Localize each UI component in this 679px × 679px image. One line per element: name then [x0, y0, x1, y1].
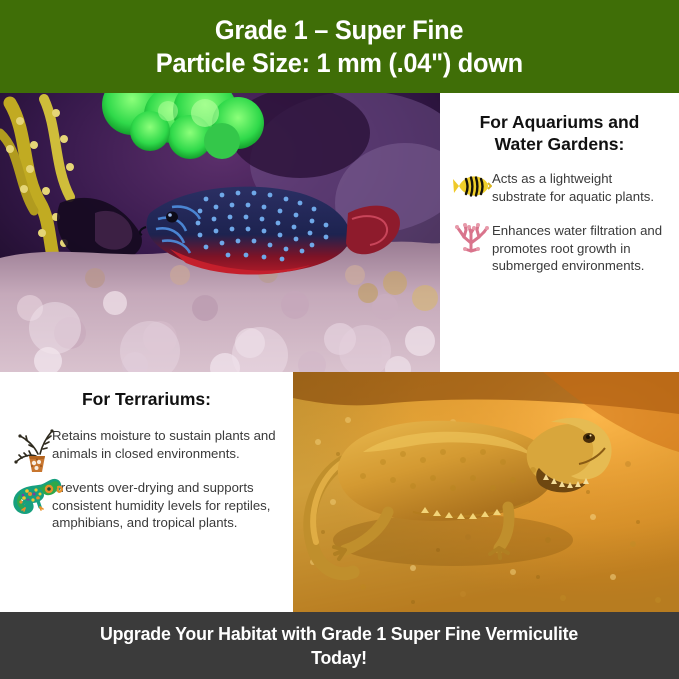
- terrarium-bullet-2-text: Prevents over-drying and supports consis…: [52, 478, 281, 532]
- footer-cta-line2: Today!: [312, 646, 368, 670]
- potted-plant-icon: [12, 426, 52, 460]
- footer-banner: Upgrade Your Habitat with Grade 1 Super …: [0, 612, 679, 679]
- aquarium-heading-line2: Water Gardens:: [452, 133, 667, 155]
- aquarium-heading: For Aquariums and Water Gardens:: [452, 111, 667, 155]
- list-item: Acts as a lightweight substrate for aqua…: [452, 169, 667, 205]
- list-item: Enhances water filtration and promotes r…: [452, 221, 667, 275]
- aquarium-heading-line1: For Aquariums and: [452, 111, 667, 133]
- list-item: Prevents over-drying and supports consis…: [12, 478, 281, 532]
- chameleon-icon: [12, 478, 52, 512]
- header-title-line1: Grade 1 – Super Fine: [215, 14, 463, 47]
- coral-icon: [452, 221, 492, 255]
- tropical-fish-icon: [452, 169, 492, 203]
- aquarium-text-panel: For Aquariums and Water Gardens:: [440, 93, 679, 372]
- terrarium-bullet-1-text: Retains moisture to sustain plants and a…: [52, 426, 281, 462]
- terrarium-row: For Terrariums:: [0, 372, 679, 612]
- aquarium-bullet-1-text: Acts as a lightweight substrate for aqua…: [492, 169, 667, 205]
- aquarium-row: For Aquariums and Water Gardens:: [0, 93, 679, 372]
- product-infographic: Grade 1 – Super Fine Particle Size: 1 mm…: [0, 0, 679, 679]
- header-title-line2: Particle Size: 1 mm (.04") down: [156, 47, 523, 80]
- terrarium-photo: [293, 372, 679, 612]
- aquarium-photo: [0, 93, 440, 372]
- terrarium-heading: For Terrariums:: [12, 388, 281, 410]
- terrarium-text-panel: For Terrariums:: [0, 372, 293, 612]
- list-item: Retains moisture to sustain plants and a…: [12, 426, 281, 462]
- header-banner: Grade 1 – Super Fine Particle Size: 1 mm…: [0, 0, 679, 93]
- footer-cta-line1: Upgrade Your Habitat with Grade 1 Super …: [100, 622, 578, 646]
- aquarium-bullet-2-text: Enhances water filtration and promotes r…: [492, 221, 667, 275]
